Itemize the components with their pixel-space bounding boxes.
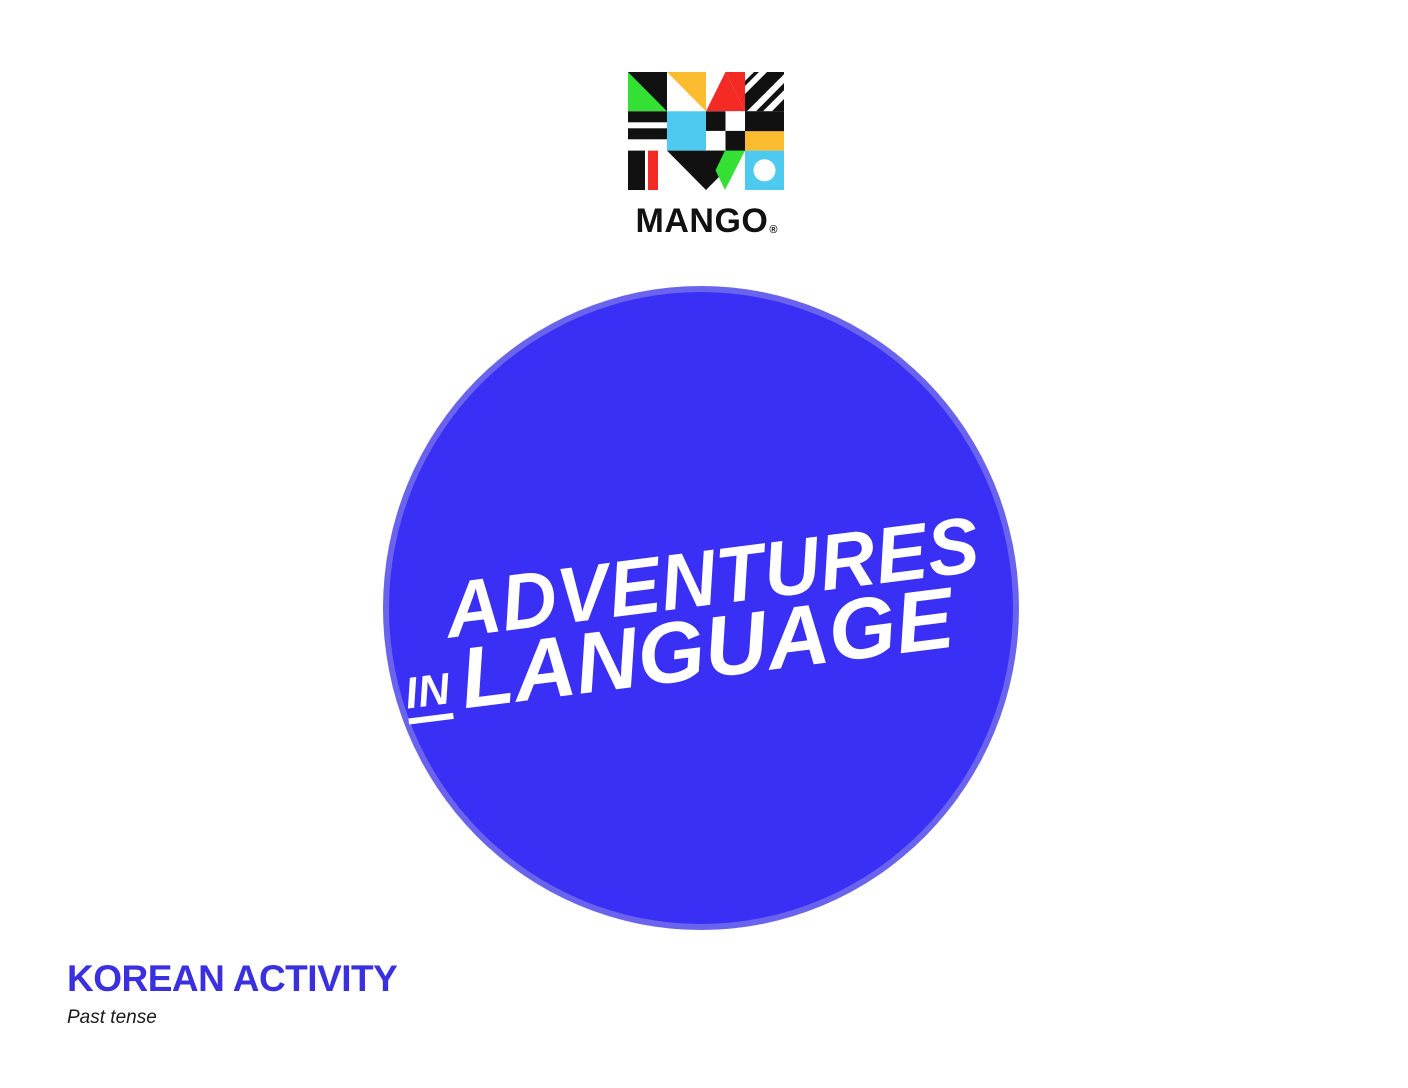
headline-in-word: IN (403, 670, 454, 725)
registered-mark: ® (769, 224, 777, 236)
mango-wordmark: MANGO® (628, 204, 784, 238)
mango-logo-mark-icon (628, 72, 784, 190)
badge-headline: ADVENTURES IN LANGUAGE (391, 508, 1010, 725)
badge-content: ADVENTURES IN LANGUAGE (383, 286, 1019, 930)
adventures-in-language-badge: ADVENTURES IN LANGUAGE (383, 286, 1019, 930)
footer-caption: KOREAN ACTIVITY Past tense (67, 957, 397, 1031)
activity-subtitle: Past tense (67, 1005, 397, 1031)
mango-logo: MANGO® (628, 72, 784, 238)
mango-wordmark-text: MANGO (636, 204, 769, 238)
activity-title: KOREAN ACTIVITY (67, 957, 397, 1001)
